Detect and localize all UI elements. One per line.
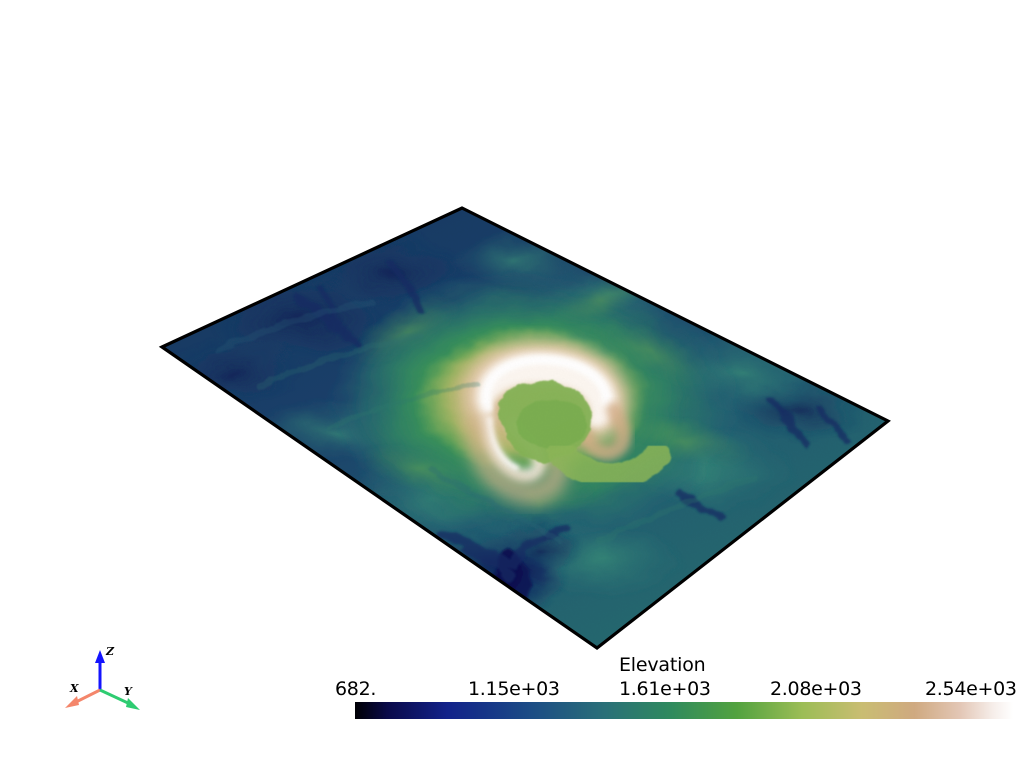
orientation-axes-widget[interactable]: Z X Y [50,648,160,748]
axis-z-arrow [95,650,105,690]
axis-y-arrow [100,690,140,710]
axis-label-z: Z [106,646,114,657]
scalar-bar-title: Elevation [619,656,705,676]
scalar-tick-label-3: 2.08e+03 [770,680,862,700]
scalar-bar-gradient[interactable] [355,702,1013,719]
axis-label-y: Y [124,686,132,697]
scalar-bar[interactable]: Elevation 682. 1.15e+03 1.61e+03 2.08e+0… [355,656,1013,722]
scalar-tick-label-2: 1.61e+03 [619,680,711,700]
scalar-tick-label-4: 2.54e+03 [925,680,1017,700]
scalar-tick-label-1: 1.15e+03 [468,680,560,700]
axis-label-x: X [70,683,79,694]
render-view[interactable]: Z X Y Elevation 682. 1.15e+03 1.61e+03 2… [0,0,1024,768]
scalar-tick-label-0: 682. [335,680,376,700]
